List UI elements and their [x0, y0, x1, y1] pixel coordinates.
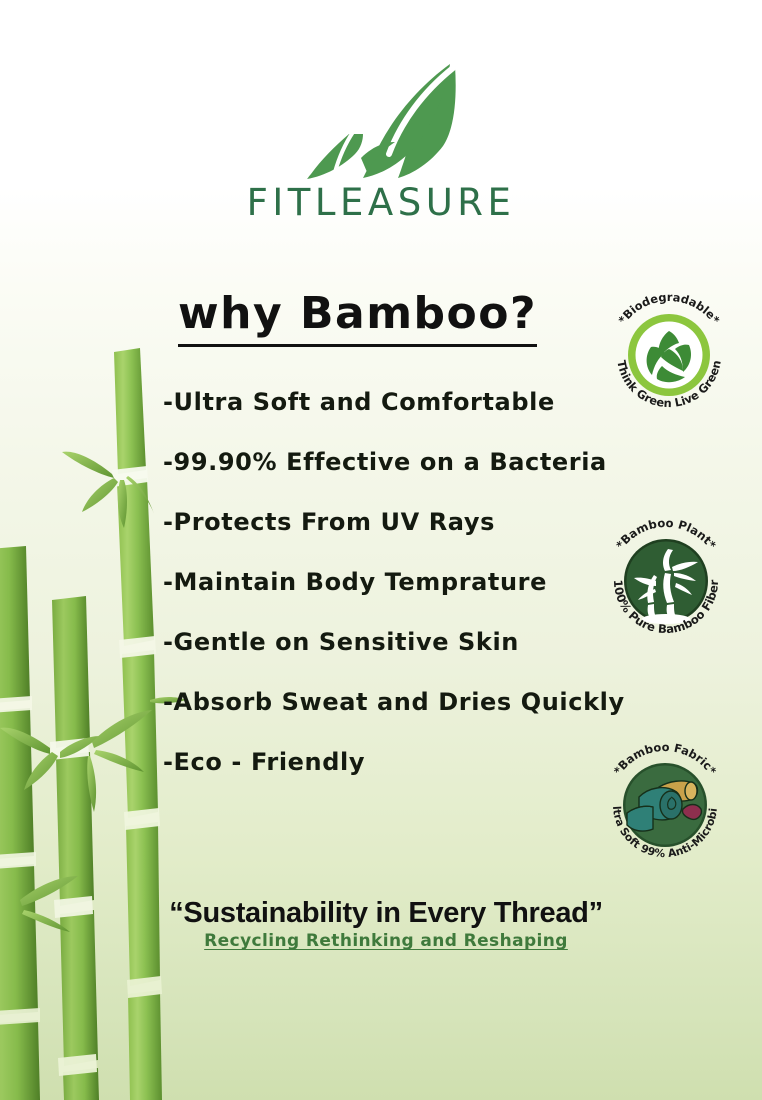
badge-bamboo-plant: *Bamboo Plant* 100% Pure Bamboo Fiber	[598, 513, 734, 649]
badge-biodegradable: *Biodegradable* Think Green Live Green	[601, 287, 737, 423]
tagline-main: “Sustainability in Every Thread”	[10, 897, 762, 930]
list-item: -Gentle on Sensitive Skin	[163, 628, 593, 688]
bamboo-stalk-secondary	[50, 596, 99, 1100]
tagline-sub: Recycling Rethinking and Reshaping	[204, 931, 568, 951]
badge-bamboo-fabric: *Bamboo Fabric* Ultra Soft 99% Anti-Micr…	[597, 737, 733, 873]
brand-wordmark: FITLEASURE	[0, 184, 762, 221]
list-item: -Ultra Soft and Comfortable	[163, 388, 593, 448]
list-item: -Absorb Sweat and Dries Quickly	[163, 688, 593, 748]
list-item: -Maintain Body Temprature	[163, 568, 593, 628]
page-title: why Bamboo?	[178, 291, 537, 347]
list-item: -Protects From UV Rays	[163, 508, 593, 568]
fitleasure-swoosh-logo	[305, 62, 457, 180]
list-item: -99.90% Effective on a Bacteria	[163, 448, 593, 508]
brand-logo: FITLEASURE	[0, 62, 762, 221]
poster-canvas: FITLEASURE why Bamboo? -Ultra Soft and C…	[0, 0, 762, 1100]
bamboo-leaf-cluster-mid	[0, 728, 100, 790]
bamboo-leaf-cluster-upper	[62, 452, 154, 528]
benefits-list: -Ultra Soft and Comfortable -99.90% Effe…	[163, 388, 593, 808]
tagline: “Sustainability in Every Thread” Recycli…	[0, 897, 762, 951]
bamboo-stalk-left	[0, 546, 40, 1100]
list-item: -Eco - Friendly	[163, 748, 593, 808]
bamboo-stalk-main	[112, 348, 162, 1100]
